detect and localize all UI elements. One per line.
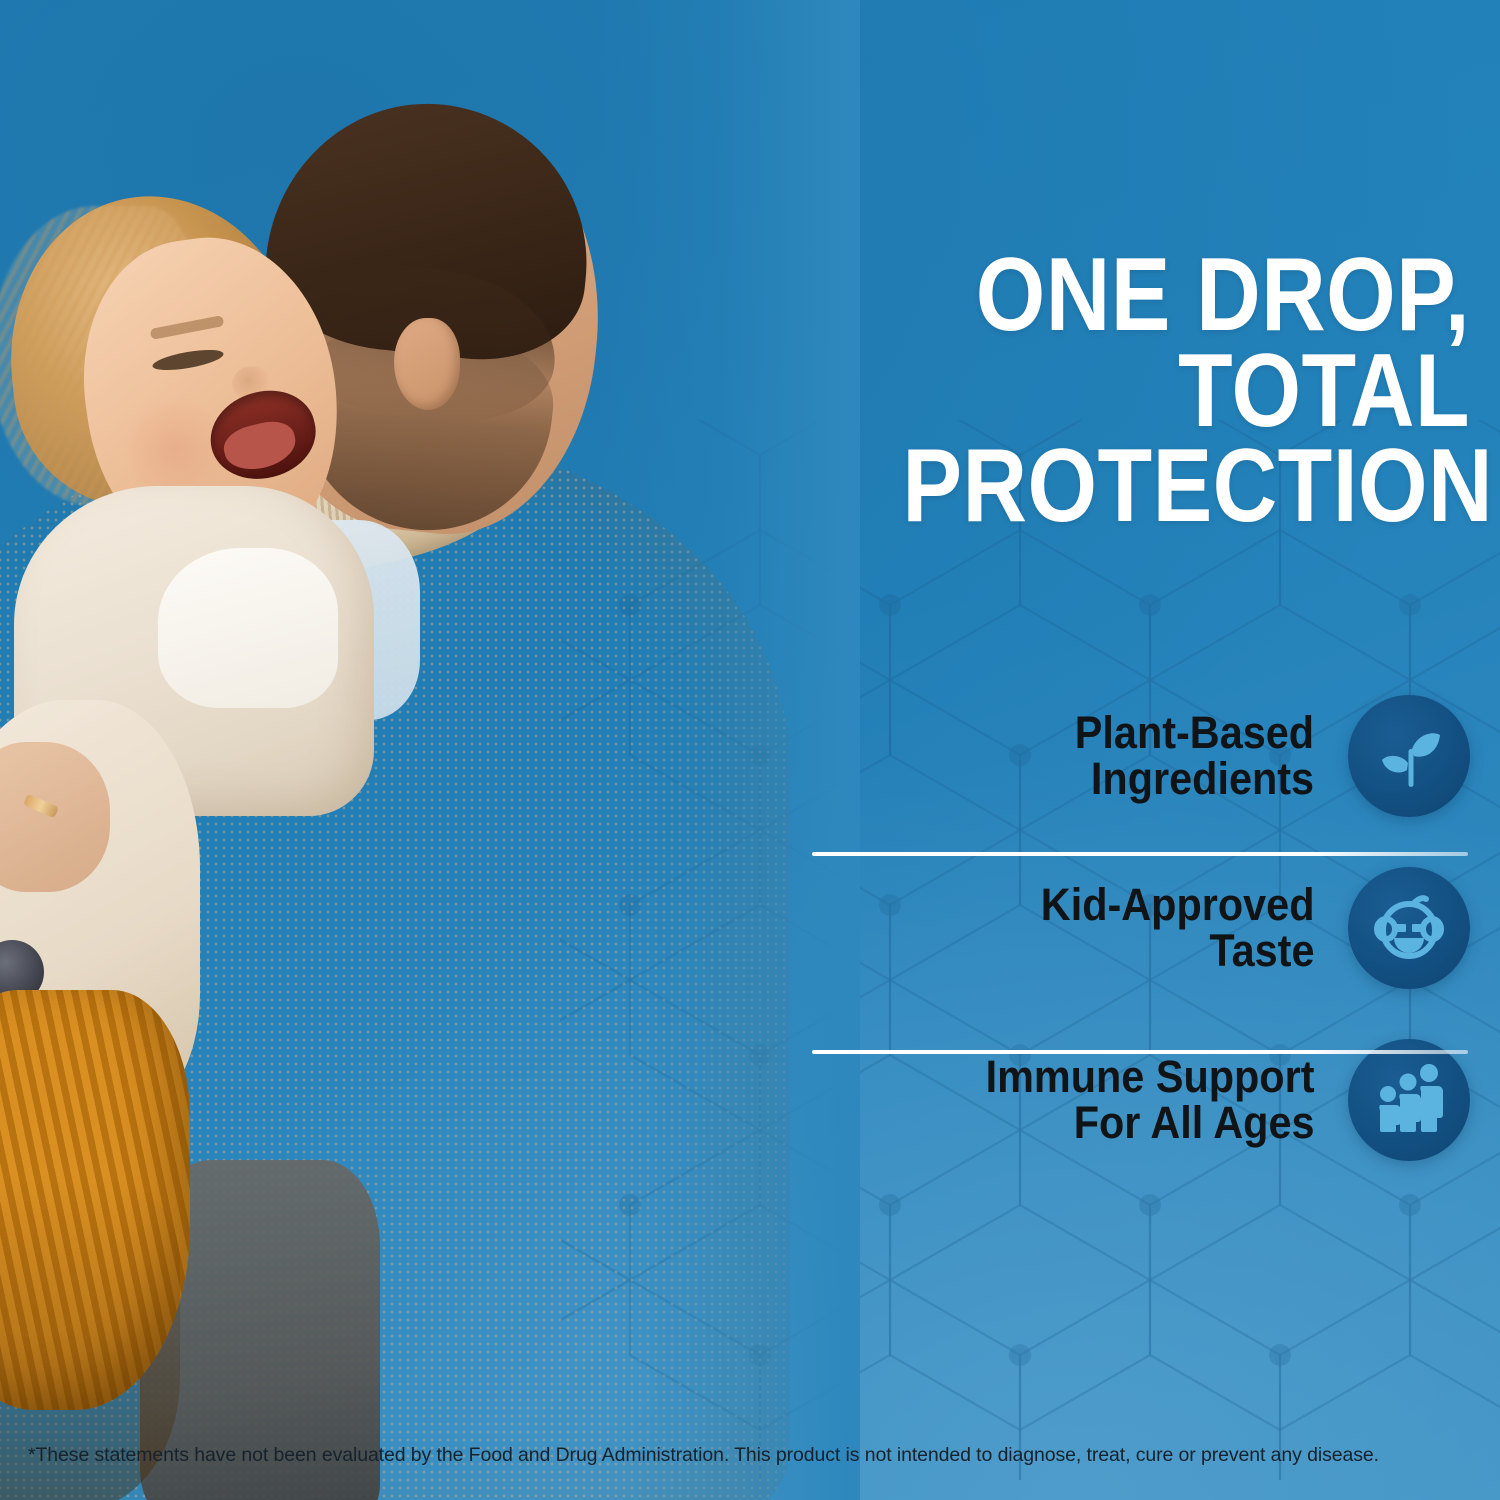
fda-disclaimer: *These statements have not been evaluate… (28, 1444, 1476, 1467)
feature-label-line-1: Plant-Based (1075, 710, 1314, 756)
feature-label-line-1: Kid-Approved (1040, 882, 1314, 928)
feature-divider-2 (812, 1050, 1468, 1054)
headline-line-2: TOTAL (902, 344, 1470, 440)
feature-divider-1 (812, 852, 1468, 856)
headline: ONE DROP, TOTAL PROTECTION (902, 248, 1470, 535)
adult-hand (0, 742, 110, 892)
marketing-image: ONE DROP, TOTAL PROTECTION Plant-Based I… (0, 0, 1500, 1500)
lifestyle-photo (0, 0, 860, 1500)
family-group-icon (1369, 1060, 1449, 1140)
feature-row-plant-based: Plant-Based Ingredients (810, 670, 1470, 842)
headline-line-1: ONE DROP, (902, 248, 1470, 344)
feature-label-line-2: Ingredients (1075, 756, 1314, 802)
baby-face-icon (1369, 888, 1449, 968)
toddler-shirt (158, 548, 338, 708)
content-column: ONE DROP, TOTAL PROTECTION Plant-Based I… (810, 0, 1500, 1500)
feature-list: Plant-Based Ingredients Kid-A (810, 670, 1470, 1186)
feature-row-kid-approved: Kid-Approved Taste (810, 842, 1470, 1014)
plant-sprout-icon (1372, 719, 1446, 793)
man-ear (394, 318, 460, 410)
feature-label-line-1: Immune Support (985, 1054, 1314, 1100)
feature-row-immune-support: Immune Support For All Ages (810, 1014, 1470, 1186)
icon-badge-plant-based (1348, 695, 1470, 817)
icon-badge-kid-approved (1348, 867, 1470, 989)
icon-badge-immune-support (1348, 1039, 1470, 1161)
feature-label-line-2: Taste (1040, 928, 1314, 974)
feature-label-immune-support: Immune Support For All Ages (985, 1054, 1314, 1146)
feature-label-kid-approved: Kid-Approved Taste (1040, 882, 1314, 974)
feature-label-plant-based: Plant-Based Ingredients (1075, 710, 1314, 802)
feature-label-line-2: For All Ages (985, 1100, 1314, 1146)
headline-line-3: PROTECTION (902, 439, 1470, 535)
